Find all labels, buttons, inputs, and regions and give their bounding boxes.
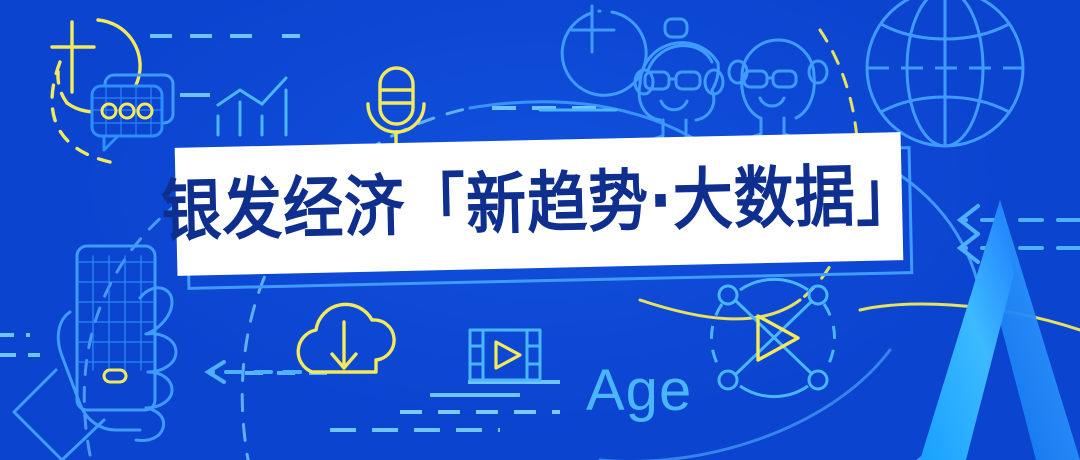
globe-icon — [867, 0, 1023, 146]
banner-plate: 银发经济「新趋势·大数据」 — [175, 132, 904, 276]
cloud-download-icon — [298, 304, 394, 372]
age-decor-text: Age — [586, 362, 692, 420]
poster-canvas: Age 银发经济「新趋势·大数据」 — [0, 0, 1080, 460]
microphone-icon — [368, 68, 424, 146]
page-title: 银发经济「新趋势·大数据」 — [160, 162, 917, 246]
left-arrow-dashed-group — [960, 206, 1080, 262]
brand-a-logo — [920, 200, 1080, 460]
bar-chart-icon — [218, 78, 286, 135]
film-play-icon — [470, 330, 540, 380]
chat-bubble-icon — [92, 75, 173, 150]
network-play-icon — [711, 279, 834, 396]
title-banner: 银发经济「新趋势·大数据」 — [176, 140, 916, 280]
